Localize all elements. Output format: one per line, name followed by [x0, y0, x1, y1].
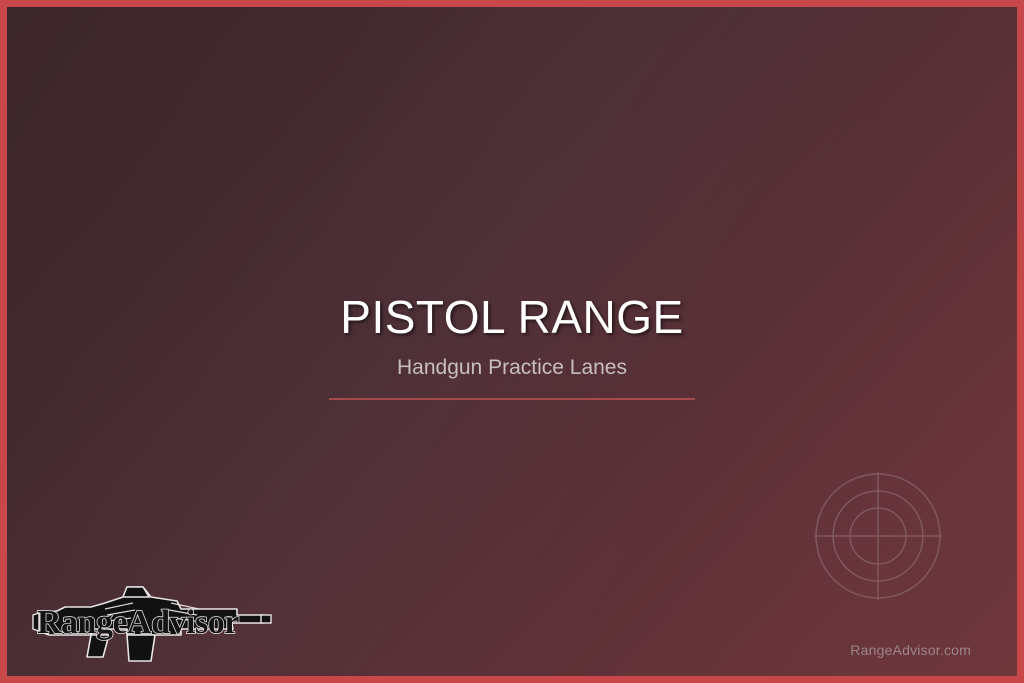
watermark-text: RangeAdvisor.com [850, 642, 971, 658]
title-divider [329, 398, 695, 400]
crosshair-target-icon [811, 469, 945, 603]
title-slide: PISTOL RANGE Handgun Practice Lanes [0, 0, 1024, 683]
slide-header: PISTOL RANGE Handgun Practice Lanes [7, 293, 1017, 400]
page-title: PISTOL RANGE [7, 293, 1017, 343]
brand-logo-text: RangeAdvisor [37, 604, 239, 641]
page-subtitle: Handgun Practice Lanes [7, 355, 1017, 380]
brand-logo: RangeAdvisor [31, 573, 273, 663]
